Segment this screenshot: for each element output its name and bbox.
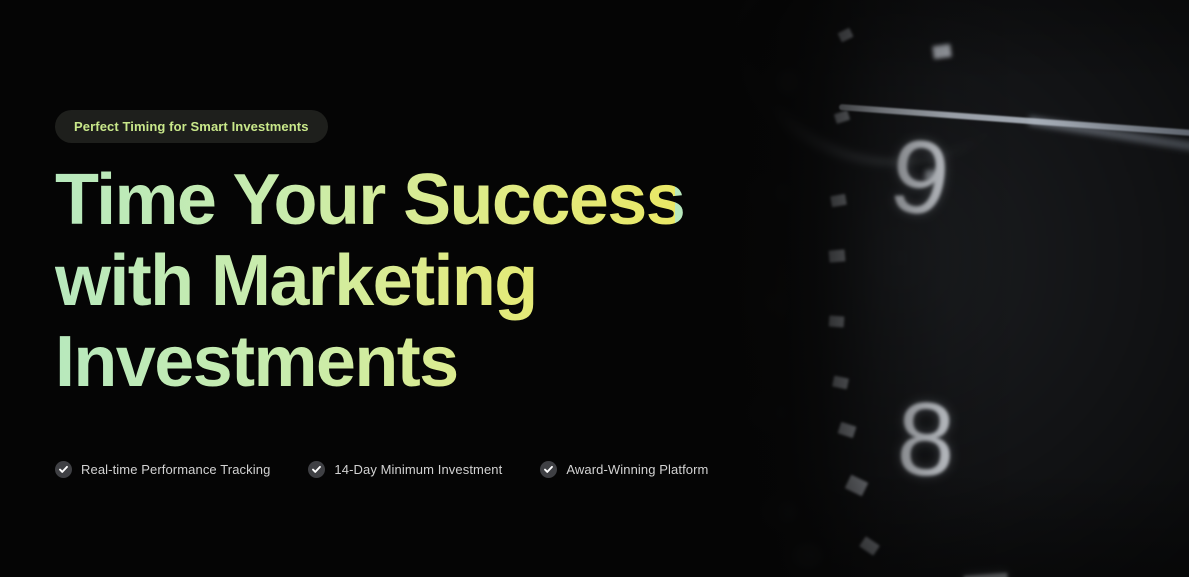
check-circle-icon [540, 461, 557, 478]
feature-label: Award-Winning Platform [566, 462, 708, 477]
feature-list: Real-time Performance Tracking 14-Day Mi… [55, 461, 708, 478]
feature-label: Real-time Performance Tracking [81, 462, 270, 477]
check-circle-icon [55, 461, 72, 478]
feature-label: 14-Day Minimum Investment [334, 462, 502, 477]
feature-item: Award-Winning Platform [540, 461, 708, 478]
page-title: Time Your Success with Marketing Investm… [55, 160, 755, 403]
hero-section: 9 8 7 Perfect Timing for Smart Investmen… [0, 0, 1189, 577]
feature-item: Real-time Performance Tracking [55, 461, 270, 478]
headline-line-1: Time Your Success [55, 160, 755, 241]
hero-badge: Perfect Timing for Smart Investments [55, 110, 328, 143]
headline-line-2: with Marketing [55, 241, 755, 322]
feature-item: 14-Day Minimum Investment [308, 461, 502, 478]
hero-content: Perfect Timing for Smart Investments Tim… [55, 0, 815, 577]
hero-badge-label: Perfect Timing for Smart Investments [74, 119, 309, 134]
check-circle-icon [308, 461, 325, 478]
headline-line-3: Investments [55, 322, 755, 403]
